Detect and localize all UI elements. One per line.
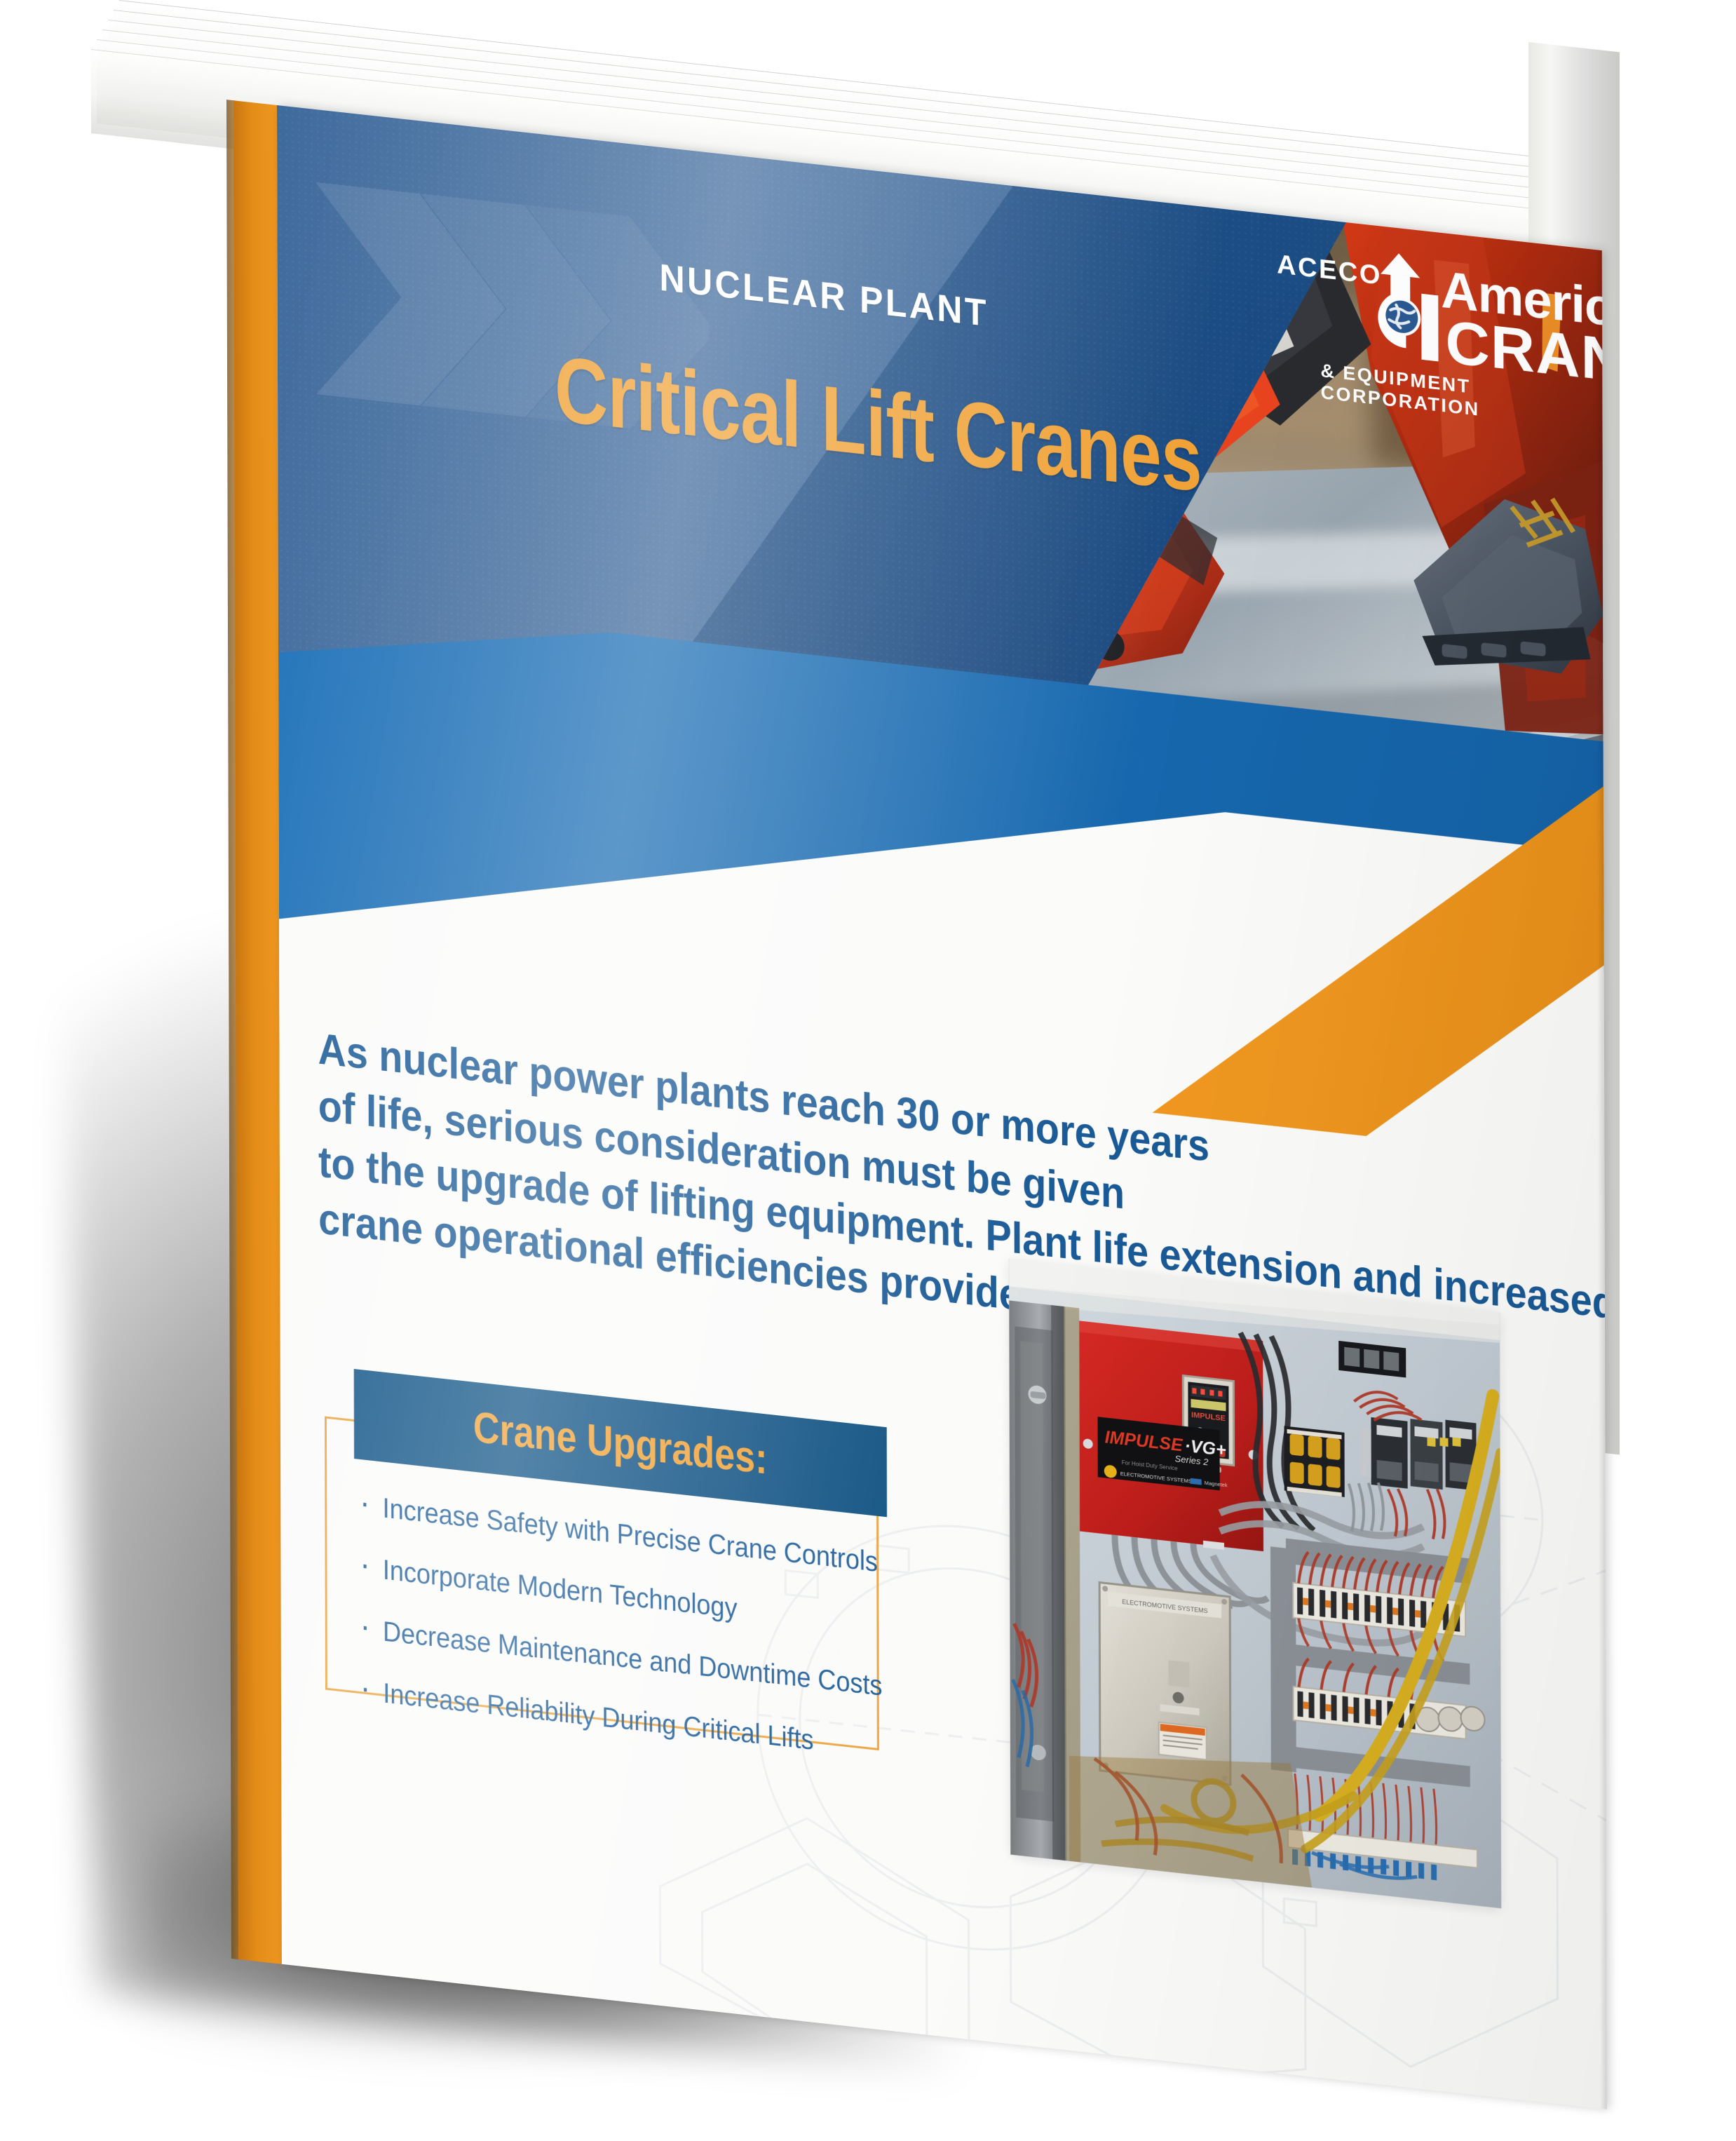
brochure-book: NUCLEAR PLANT Critical Lift Cranes ACECO… — [277, 105, 1607, 2109]
crane-control-panel-photo: IMPULSE IMPULSE ·VG+ Series 2 For Hoist … — [1009, 1258, 1501, 1908]
screenshot-canvas: NUCLEAR PLANT Critical Lift Cranes ACECO… — [0, 0, 1736, 2141]
book-spine — [233, 100, 283, 1964]
globe-arrow-a-icon — [1362, 248, 1446, 363]
upgrades-heading: Crane Upgrades: — [473, 1402, 768, 1484]
brochure-cover: NUCLEAR PLANT Critical Lift Cranes ACECO… — [277, 105, 1607, 2109]
panel-photo-art: IMPULSE IMPULSE ·VG+ Series 2 For Hoist … — [1009, 1258, 1501, 1908]
